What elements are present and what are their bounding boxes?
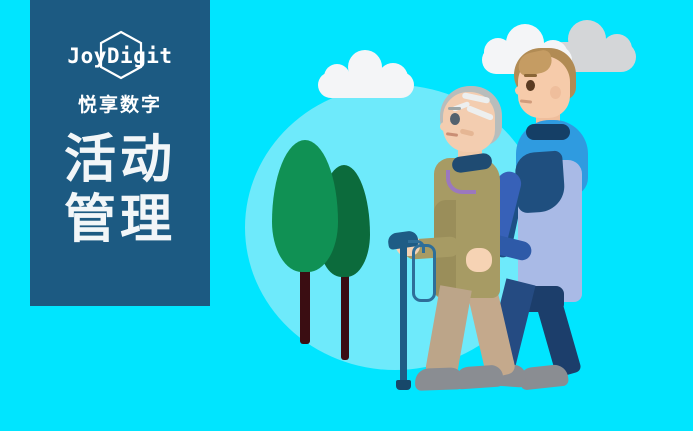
cane-wrist-loop-top bbox=[408, 240, 425, 253]
page-title: 活动 管理 bbox=[30, 130, 210, 251]
cane-tip bbox=[396, 380, 411, 390]
man-ear bbox=[550, 86, 561, 99]
elder-nose bbox=[440, 122, 449, 131]
logo-wordmark: JoyDigit bbox=[30, 44, 210, 68]
page-title-line-1: 活动 bbox=[30, 130, 210, 190]
man-nose bbox=[515, 86, 524, 95]
activity-management-banner: JoyDigit 悦享数字 活动 管理 bbox=[0, 0, 693, 431]
elder-eyebrow bbox=[448, 107, 461, 110]
man-eyebrow bbox=[524, 74, 537, 77]
man-collar bbox=[526, 124, 570, 140]
cloud-icon-left bbox=[318, 50, 414, 96]
elder-eye bbox=[450, 113, 460, 125]
man-eye bbox=[526, 80, 535, 91]
man-back-shoe bbox=[519, 364, 569, 391]
title-panel: JoyDigit 悦享数字 活动 管理 bbox=[30, 0, 210, 306]
cloud-base bbox=[318, 72, 414, 98]
brand-logo: JoyDigit 悦享数字 bbox=[30, 30, 210, 117]
page-title-line-2: 管理 bbox=[30, 190, 210, 250]
cane-shaft bbox=[400, 244, 407, 386]
elder-linked-hand bbox=[466, 248, 492, 272]
logo-chinese-name: 悦享数字 bbox=[30, 90, 210, 117]
logo-mark: JoyDigit bbox=[30, 30, 210, 86]
elder-front-shoe bbox=[415, 367, 464, 391]
